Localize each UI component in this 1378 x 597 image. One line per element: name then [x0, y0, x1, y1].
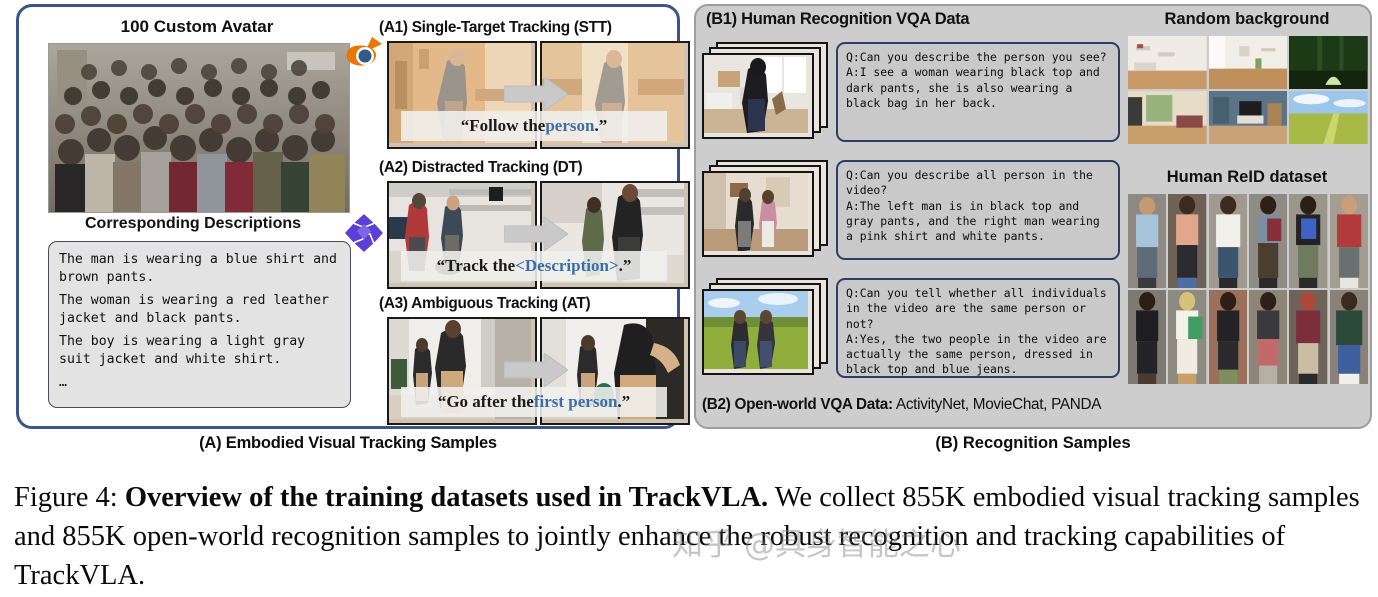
reid-thumb	[1209, 194, 1247, 288]
reid-thumb	[1249, 194, 1287, 288]
a2-instruction: “Track the <Description>.”	[401, 251, 667, 281]
b2-value: ActivityNet, MovieChat, PANDA	[893, 396, 1101, 413]
reid1	[1128, 194, 1166, 288]
descriptions-box: The man is wearing a blue shirt and brow…	[48, 241, 351, 408]
reid6	[1330, 194, 1368, 288]
avatar-heading: 100 Custom Avatar	[43, 17, 351, 37]
reid-grid	[1128, 194, 1368, 384]
reid-thumb	[1249, 290, 1287, 384]
subpanel-a3: (A3) Ambiguous Tracking (AT)	[379, 295, 691, 421]
vqa-text-box: Q:Can you tell whether all individuals i…	[836, 278, 1120, 378]
reid-thumb	[1289, 290, 1327, 384]
vqa-question: Q:Can you describe the person you see?	[846, 50, 1107, 64]
subpanel-a1: (A1) Single-Target Tracking (STT)	[379, 19, 691, 145]
subpanel-a2: (A2) Distracted Tracking (DT)	[379, 159, 691, 285]
reid8	[1168, 290, 1206, 384]
thumb-front	[702, 53, 814, 139]
reid-heading: Human ReID dataset	[1128, 168, 1366, 187]
a2-arrow-svg	[504, 217, 568, 251]
subpanel-a2-heading: (A2) Distracted Tracking (DT)	[379, 159, 691, 177]
bg4-illustration	[1128, 91, 1207, 144]
a2-instruction-suffix: .”	[619, 256, 632, 276]
vqa-answer: A:The left man is in black top and gray …	[846, 199, 1107, 244]
panel-a-caption: (A) Embodied Visual Tracking Samples	[16, 434, 680, 453]
vqa3-frame-illustration	[704, 291, 808, 369]
bg3-illustration	[1289, 36, 1368, 89]
reid4	[1249, 194, 1287, 288]
bg6-illustration	[1289, 91, 1368, 144]
description-item: The man is wearing a blue shirt and brow…	[59, 251, 340, 286]
thumb-front	[702, 171, 814, 257]
subpanel-a3-frames: “Go after the first person.”	[379, 317, 691, 421]
a1-instruction: “Follow the person.”	[401, 111, 667, 141]
reid2	[1168, 194, 1206, 288]
vqa1-frame-illustration	[704, 55, 808, 133]
caption-bold: Overview of the training datasets used i…	[125, 482, 768, 513]
subpanel-a2-frames: “Track the <Description>.”	[379, 181, 691, 285]
background-thumb	[1128, 36, 1207, 89]
vqa2-frame-illustration	[704, 173, 808, 251]
background-thumb	[1128, 91, 1207, 144]
reid-thumb	[1128, 194, 1166, 288]
a3-instruction-suffix: .”	[617, 392, 630, 412]
figure-root: 100 Custom Avatar	[0, 0, 1378, 597]
caption-prefix: Figure 4:	[14, 482, 125, 513]
reid7	[1128, 290, 1166, 384]
reid5	[1289, 194, 1327, 288]
figure-caption: Figure 4: Overview of the training datas…	[14, 478, 1366, 595]
reid-thumb	[1209, 290, 1247, 384]
description-ellipsis: …	[59, 374, 340, 392]
a1-arrow-svg	[504, 77, 568, 111]
reid-thumb	[1330, 194, 1368, 288]
vqa-row: Q:Can you tell whether all individuals i…	[702, 278, 1122, 383]
reid-thumb	[1128, 290, 1166, 384]
descriptions-heading: Corresponding Descriptions	[43, 215, 343, 233]
reid3	[1209, 194, 1247, 288]
vqa-text-box: Q:Can you describe all person in the vid…	[836, 160, 1120, 260]
background-thumb	[1289, 36, 1368, 89]
vqa-text-box: Q:Can you describe the person you see? A…	[836, 42, 1120, 142]
reid-thumb	[1168, 290, 1206, 384]
a1-instruction-suffix: .”	[594, 116, 607, 136]
subpanel-a1-frames: “Follow the person.”	[379, 41, 691, 145]
vqa-answer: A:Yes, the two people in the video are a…	[846, 332, 1113, 377]
background-thumb	[1209, 36, 1288, 89]
description-item: The woman is wearing a red leather jacke…	[59, 292, 340, 327]
random-background-grid	[1128, 36, 1368, 144]
video-thumbnail-stack	[702, 160, 830, 260]
bg2-illustration	[1209, 36, 1288, 89]
reid10	[1249, 290, 1287, 384]
b2-openworld-row: (B2) Open-world VQA Data: ActivityNet, M…	[702, 396, 1122, 422]
a2-arrow-icon	[504, 217, 568, 251]
thumb-front	[702, 289, 814, 375]
vqa-question: Q:Can you describe all person in the vid…	[846, 168, 1100, 197]
panel-b-caption: (B) Recognition Samples	[694, 434, 1372, 453]
a2-instruction-highlight: <Description>	[515, 256, 618, 276]
a3-arrow-svg	[504, 353, 568, 387]
video-thumbnail-stack	[702, 278, 830, 378]
a3-instruction-highlight: first person	[534, 392, 618, 412]
b1-heading: (B1) Human Recognition VQA Data	[706, 10, 969, 29]
a3-instruction-prefix: “Go after the	[438, 392, 534, 412]
random-background-heading: Random background	[1128, 10, 1366, 29]
panel-a-embodied-tracking: 100 Custom Avatar	[16, 4, 680, 429]
a2-instruction-prefix: “Track the	[437, 256, 516, 276]
avatar-crowd-illustration	[49, 44, 349, 212]
bg1-illustration	[1128, 36, 1207, 89]
vqa-answer: A:I see a woman wearing black top and da…	[846, 65, 1107, 110]
a3-instruction: “Go after the first person.”	[401, 387, 667, 417]
description-item: The boy is wearing a light gray suit jac…	[59, 333, 340, 368]
video-thumbnail-stack	[702, 42, 830, 142]
vqa-question: Q:Can you tell whether all individuals i…	[846, 286, 1113, 331]
reid12	[1330, 290, 1368, 384]
subpanel-a1-heading: (A1) Single-Target Tracking (STT)	[379, 19, 691, 37]
background-thumb	[1209, 91, 1288, 144]
reid11	[1289, 290, 1327, 384]
reid-thumb	[1330, 290, 1368, 384]
a1-instruction-prefix: “Follow the	[461, 116, 546, 136]
a3-arrow-icon	[504, 353, 568, 387]
b2-label: (B2) Open-world VQA Data:	[702, 396, 893, 413]
background-thumb	[1289, 91, 1368, 144]
a1-arrow-icon	[504, 77, 568, 111]
subpanel-a3-heading: (A3) Ambiguous Tracking (AT)	[379, 295, 691, 313]
custom-avatar-crowd-image	[48, 43, 350, 213]
vqa-row: Q:Can you describe all person in the vid…	[702, 160, 1122, 265]
bg5-illustration	[1209, 91, 1288, 144]
vqa-row: Q:Can you describe the person you see? A…	[702, 42, 1122, 147]
reid-thumb	[1168, 194, 1206, 288]
reid-thumb	[1289, 194, 1327, 288]
reid9	[1209, 290, 1247, 384]
a1-instruction-highlight: person	[545, 116, 594, 136]
